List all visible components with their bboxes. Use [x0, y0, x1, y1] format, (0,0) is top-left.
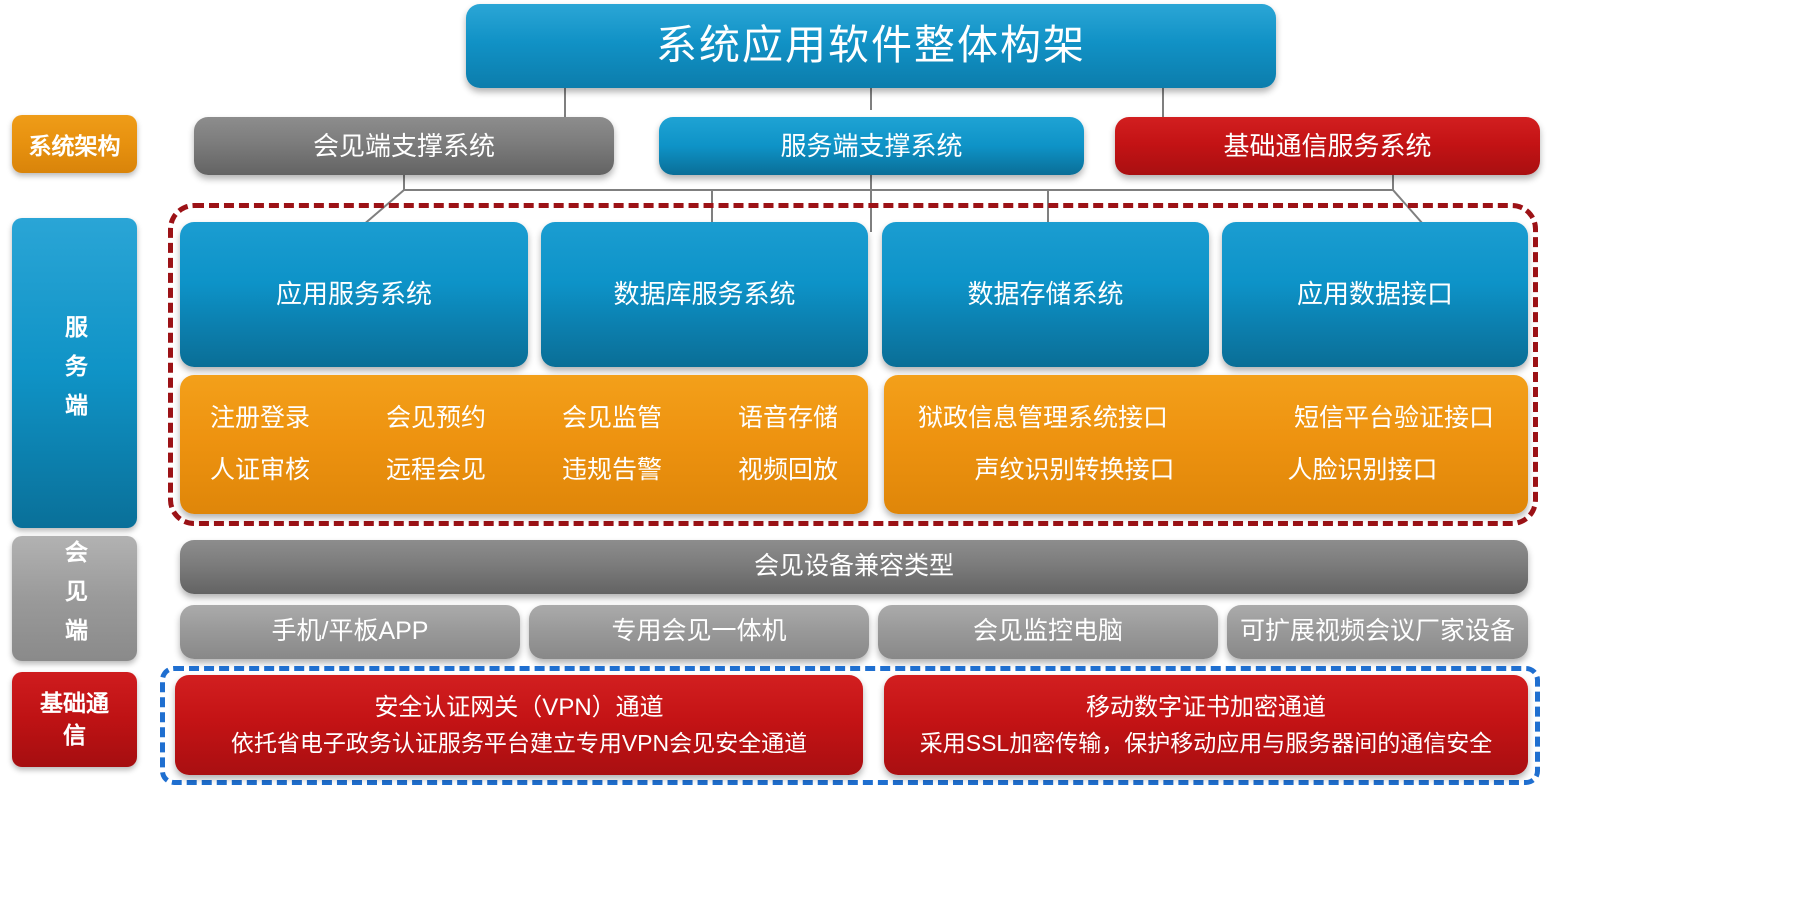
- side-label-server-side: 服务端: [12, 218, 137, 528]
- function-item: 人证审核: [210, 455, 310, 486]
- tier2-label: 会见端支撑系统: [313, 130, 495, 163]
- side-label-text: 服务端: [58, 315, 92, 432]
- function-item: 视频回放: [738, 455, 838, 486]
- function-item: 注册登录: [210, 403, 310, 434]
- device-label: 可扩展视频会议厂家设备: [1240, 616, 1515, 647]
- tier2-server-support: 服务端支撑系统: [659, 117, 1084, 175]
- server-system-label: 数据存储系统: [967, 278, 1123, 311]
- function-item: 违规告警: [562, 455, 662, 486]
- diagram-title-text: 系统应用软件整体构架: [656, 20, 1086, 71]
- device-label: 专用会见一体机: [611, 616, 786, 647]
- function-item: 人脸识别接口: [1287, 455, 1437, 486]
- tier2-label: 基础通信服务系统: [1223, 130, 1431, 163]
- server-system-data-storage: 数据存储系统: [882, 222, 1209, 367]
- function-panel-right: 狱政信息管理系统接口 短信平台验证接口 声纹识别转换接口 人脸识别接口: [884, 375, 1528, 514]
- device-all-in-one: 专用会见一体机: [529, 605, 869, 659]
- server-system-db-service: 数据库服务系统: [541, 222, 868, 367]
- tier2-meeting-support: 会见端支撑系统: [194, 117, 614, 175]
- server-system-app-data-api: 应用数据接口: [1222, 222, 1528, 367]
- device-label: 会见监控电脑: [973, 616, 1123, 647]
- function-item: 声纹识别转换接口: [974, 455, 1174, 486]
- comm-channel-vpn: 安全认证网关（VPN）通道 依托省电子政务认证服务平台建立专用VPN会见安全通道: [175, 675, 863, 775]
- device-vendor-video: 可扩展视频会议厂家设备: [1227, 605, 1528, 659]
- device-compat-header-label: 会见设备兼容类型: [754, 551, 954, 582]
- side-label-text: 会见端: [58, 540, 92, 657]
- comm-channel-mobile-cert: 移动数字证书加密通道 采用SSL加密传输，保护移动应用与服务器间的通信安全: [884, 675, 1528, 775]
- function-item: 远程会见: [386, 455, 486, 486]
- server-system-label: 应用服务系统: [276, 278, 432, 311]
- device-label: 手机/平板APP: [272, 616, 429, 647]
- server-system-label: 应用数据接口: [1297, 278, 1453, 311]
- comm-channel-title: 移动数字证书加密通道: [1086, 693, 1326, 723]
- diagram-title: 系统应用软件整体构架: [466, 4, 1276, 88]
- side-label-meeting-side: 会见端: [12, 536, 137, 661]
- comm-channel-subtitle: 依托省电子政务认证服务平台建立专用VPN会见安全通道: [231, 729, 807, 758]
- comm-channel-title: 安全认证网关（VPN）通道: [374, 693, 663, 723]
- function-item: 短信平台验证接口: [1294, 403, 1494, 434]
- function-item: 语音存储: [738, 403, 838, 434]
- device-mobile-app: 手机/平板APP: [180, 605, 520, 659]
- architecture-diagram: 系统应用软件整体构架 系统架构 服务端 会见端 基础通信 会见端支撑系统 服务端…: [0, 0, 1810, 911]
- server-system-app-service: 应用服务系统: [180, 222, 528, 367]
- device-monitor-pc: 会见监控电脑: [878, 605, 1218, 659]
- function-panel-left: 注册登录 会见预约 会见监管 语音存储 人证审核 远程会见 违规告警 视频回放: [180, 375, 868, 514]
- function-item: 会见预约: [386, 403, 486, 434]
- device-compat-header: 会见设备兼容类型: [180, 540, 1528, 594]
- tier2-comm-service: 基础通信服务系统: [1115, 117, 1540, 175]
- server-system-label: 数据库服务系统: [613, 278, 795, 311]
- comm-channel-subtitle: 采用SSL加密传输，保护移动应用与服务器间的通信安全: [920, 729, 1492, 758]
- function-item: 狱政信息管理系统接口: [918, 403, 1168, 434]
- side-label-text: 系统架构: [29, 127, 121, 161]
- side-label-basic-comm: 基础通信: [12, 672, 137, 767]
- side-label-text: 基础通信: [38, 688, 112, 750]
- function-item: 会见监管: [562, 403, 662, 434]
- side-label-system-architecture: 系统架构: [12, 115, 137, 173]
- tier2-label: 服务端支撑系统: [780, 130, 962, 163]
